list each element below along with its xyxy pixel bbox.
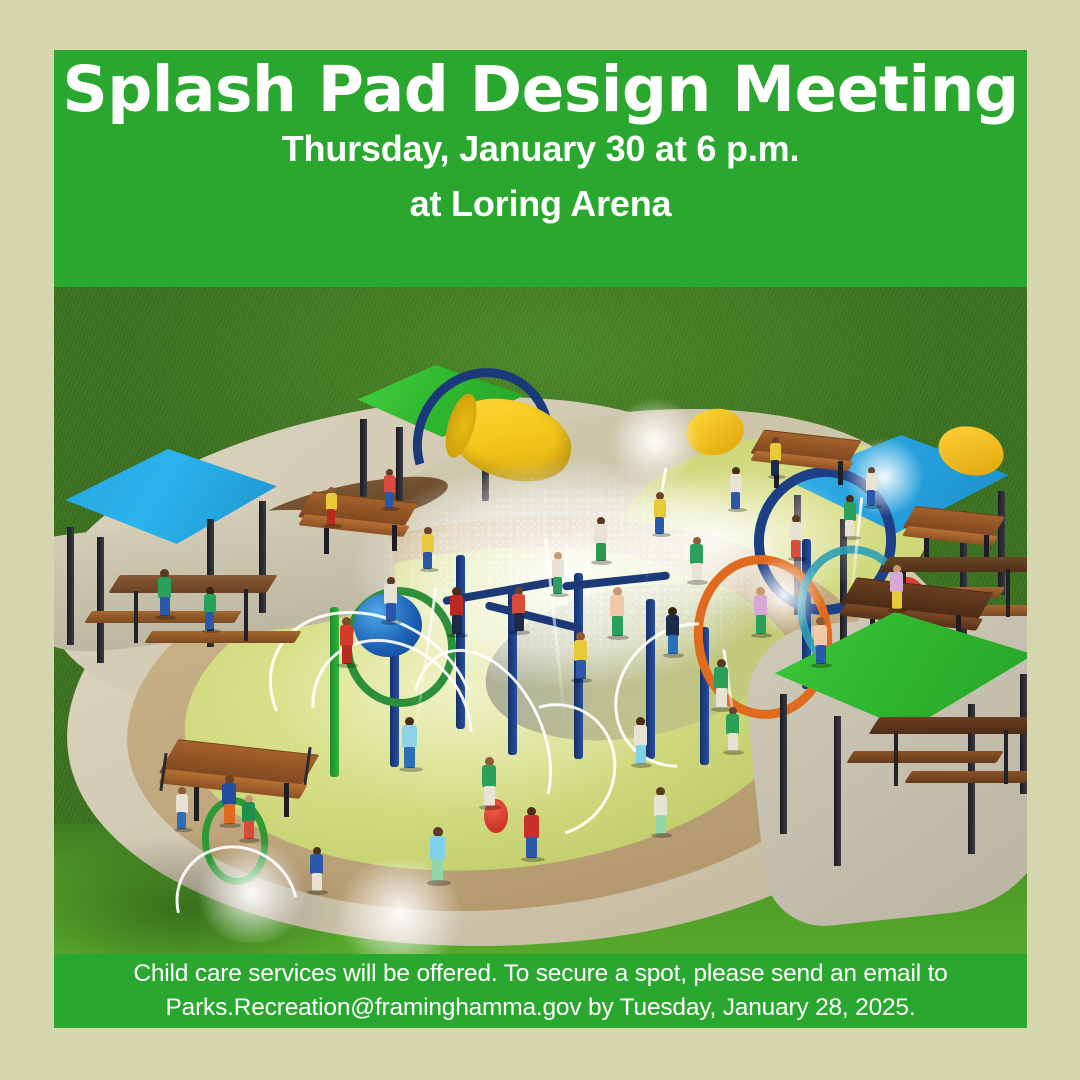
person-legs [432, 859, 443, 881]
person-legs [177, 812, 186, 829]
person-legs [791, 540, 800, 558]
person-torso [222, 783, 236, 805]
person [384, 469, 395, 510]
person-shadow [687, 580, 708, 585]
person-shadow [651, 833, 672, 838]
person-legs [576, 660, 586, 679]
person-legs [553, 577, 562, 594]
person [552, 552, 564, 596]
person-legs [386, 603, 396, 621]
person-legs [327, 509, 335, 525]
bench-leg [324, 528, 329, 554]
person-legs [423, 552, 432, 569]
person-legs [224, 804, 235, 824]
header-banner: Splash Pad Design Meeting Thursday, Janu… [54, 50, 1027, 287]
person-legs [655, 517, 664, 534]
person-legs [452, 615, 462, 634]
person [524, 807, 539, 860]
bench-leg [194, 787, 199, 821]
person-shadow [174, 828, 193, 832]
person-legs [845, 520, 854, 537]
person-shadow [239, 838, 260, 843]
person [654, 787, 667, 836]
person-legs [612, 616, 623, 636]
person [690, 537, 703, 583]
picnic-table [844, 717, 1027, 807]
person-legs [668, 635, 678, 654]
person-shadow [591, 560, 612, 565]
person-shadow [381, 620, 402, 625]
person [594, 517, 607, 563]
person-torso [666, 615, 679, 636]
person-shadow [399, 767, 423, 772]
person [384, 577, 397, 623]
person [754, 587, 767, 636]
person-shadow [420, 568, 439, 572]
person [430, 827, 445, 883]
park-bench [906, 511, 1026, 563]
person-shadow [607, 635, 629, 640]
canopy-post [67, 527, 74, 645]
person-legs [731, 492, 740, 509]
park-bench [302, 497, 442, 553]
person-torso [552, 559, 564, 578]
person [574, 632, 587, 681]
person-torso [524, 815, 539, 838]
person-shadow [337, 663, 358, 668]
person-torso [634, 725, 647, 746]
person [222, 775, 236, 826]
person-legs [692, 563, 702, 581]
canopy-roof [772, 612, 1027, 730]
person-legs [312, 873, 322, 891]
bench-leg [284, 783, 289, 817]
person-shadow [788, 557, 807, 561]
water-burst [610, 397, 700, 487]
person-torso [310, 854, 323, 874]
person [512, 587, 525, 633]
person-torso [726, 714, 739, 734]
picnic-table [78, 575, 298, 661]
table-leg [134, 591, 138, 643]
bench-leg [984, 535, 989, 557]
person-torso [512, 594, 525, 614]
person [450, 587, 463, 636]
table-seat [846, 751, 1003, 763]
person [402, 717, 417, 770]
person-legs [514, 613, 524, 631]
person-torso [790, 522, 802, 541]
canopy-roof [59, 449, 277, 547]
person-torso [326, 493, 337, 510]
person-torso [814, 625, 827, 646]
childcare-notice-line-1: Child care services will be offered. To … [133, 957, 947, 991]
person-shadow [382, 507, 400, 511]
person-shadow [550, 593, 569, 597]
person-torso [714, 667, 728, 689]
person [890, 565, 903, 611]
person-legs [867, 490, 875, 506]
person-torso [384, 584, 397, 604]
person-shadow [307, 890, 328, 895]
person [158, 569, 171, 618]
person-shadow [631, 763, 652, 768]
park-bench [164, 747, 354, 817]
person-legs [484, 786, 495, 806]
person [482, 757, 496, 808]
person-torso [176, 794, 188, 813]
event-location: at Loring Arena [54, 177, 1027, 232]
person-legs [892, 591, 902, 609]
person-shadow [751, 633, 772, 638]
scene [54, 287, 1027, 954]
person-torso [384, 475, 395, 493]
person [790, 515, 802, 560]
person-torso [770, 443, 781, 461]
person-legs [716, 688, 727, 708]
person-shadow [723, 750, 744, 755]
person-torso [242, 802, 255, 822]
person-torso [610, 595, 624, 617]
person-shadow [447, 633, 468, 638]
person-legs [244, 821, 254, 839]
person [726, 707, 739, 753]
person [242, 795, 255, 841]
person-legs [342, 645, 352, 664]
person [610, 587, 624, 638]
person-shadow [202, 629, 221, 633]
person [340, 617, 353, 666]
childcare-notice-line-2: Parks.Recreation@framinghamma.gov by Tue… [166, 991, 916, 1025]
event-poster: Splash Pad Design Meeting Thursday, Janu… [54, 50, 1027, 1028]
person-torso [844, 502, 856, 521]
person [176, 787, 188, 831]
person-shadow [652, 533, 671, 537]
person [666, 607, 679, 656]
person-torso [654, 499, 666, 518]
canopy-post [780, 694, 787, 834]
person-legs [205, 612, 214, 630]
person-shadow [521, 857, 545, 862]
person-shadow [887, 608, 908, 613]
person [814, 617, 827, 666]
person-legs [596, 543, 606, 561]
person-torso [890, 572, 903, 592]
person-legs [816, 645, 826, 664]
person-torso [594, 524, 607, 544]
person [310, 847, 323, 893]
person-shadow [324, 524, 342, 528]
footer-banner: Child care services will be offered. To … [54, 954, 1027, 1028]
person-torso [690, 544, 703, 564]
person-shadow [509, 630, 530, 635]
person [634, 717, 647, 766]
person-torso [340, 625, 353, 646]
person-legs [756, 615, 766, 634]
person-shadow [479, 805, 501, 810]
person-shadow [728, 508, 747, 512]
person-legs [385, 492, 393, 508]
person-legs [771, 460, 779, 476]
person-shadow [155, 615, 176, 620]
person [770, 437, 781, 478]
person-shadow [663, 653, 684, 658]
canopy-post [834, 716, 841, 866]
table-leg [894, 732, 898, 786]
person-torso [204, 594, 216, 613]
person-torso [730, 474, 742, 493]
person-torso [574, 640, 587, 661]
person-legs [160, 597, 170, 616]
bench-leg [838, 461, 843, 485]
table-leg [1004, 730, 1008, 784]
person-legs [404, 747, 415, 768]
person [326, 487, 337, 527]
person-shadow [571, 678, 592, 683]
person-torso [158, 577, 171, 598]
person-torso [422, 534, 434, 553]
person-legs [728, 733, 738, 751]
person-legs [656, 815, 666, 834]
person-torso [482, 765, 496, 787]
person-torso [866, 473, 877, 491]
person-torso [430, 836, 445, 860]
person-torso [754, 595, 767, 616]
table-seat [144, 631, 301, 643]
person-shadow [811, 663, 832, 668]
person-shadow [842, 536, 861, 540]
person [654, 492, 666, 536]
page-title: Splash Pad Design Meeting [54, 58, 1027, 122]
person [422, 527, 434, 571]
person-shadow [768, 475, 786, 479]
person-legs [636, 745, 646, 764]
person-shadow [427, 880, 451, 886]
person [866, 467, 877, 508]
person-shadow [219, 823, 241, 828]
person-torso [402, 725, 417, 748]
person-torso [450, 595, 463, 616]
person [714, 659, 728, 710]
person-shadow [864, 505, 882, 509]
splash-pad-rendering [54, 287, 1027, 954]
person [730, 467, 742, 511]
person-torso [654, 795, 667, 816]
table-seat [904, 771, 1027, 783]
person-legs [526, 837, 537, 858]
table-leg [244, 589, 248, 641]
person [204, 587, 216, 632]
person [844, 495, 856, 539]
bench-leg [392, 525, 397, 551]
event-datetime: Thursday, January 30 at 6 p.m. [54, 122, 1027, 177]
